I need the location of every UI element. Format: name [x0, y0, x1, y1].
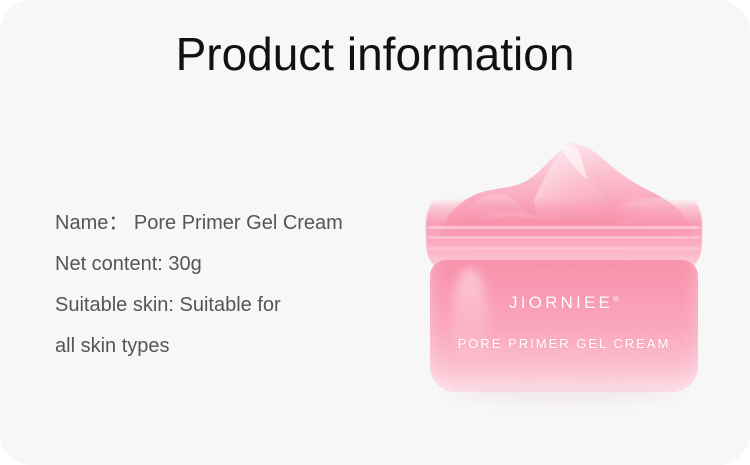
product-spec-list: Name： Pore Primer Gel Cream Net content:… [55, 203, 435, 367]
jar-rim [426, 198, 702, 268]
jar-rim-ridge [428, 247, 700, 250]
product-image: JIORNIEE® PORE PRIMER GEL CREAM [414, 130, 714, 405]
jar-rim-ridge [428, 226, 700, 229]
product-information-card: Product information Name： Pore Primer Ge… [0, 0, 750, 465]
jar-product-name-label: PORE PRIMER GEL CREAM [414, 336, 714, 351]
spec-line-net-content: Net content: 30g [55, 244, 435, 285]
jar-rim-ridge [428, 236, 700, 239]
jar-brand-name: JIORNIEE [509, 293, 613, 312]
jar-drop-shadow [448, 386, 680, 400]
page-title: Product information [0, 28, 750, 81]
spec-line-suitable-skin-cont: all skin types [55, 326, 435, 367]
jar-gloss-highlight [452, 268, 488, 376]
spec-line-suitable-skin: Suitable skin: Suitable for [55, 285, 435, 326]
jar-brand-label: JIORNIEE® [414, 293, 714, 313]
registered-trademark-icon: ® [613, 294, 619, 303]
spec-line-name: Name： Pore Primer Gel Cream [55, 203, 435, 244]
